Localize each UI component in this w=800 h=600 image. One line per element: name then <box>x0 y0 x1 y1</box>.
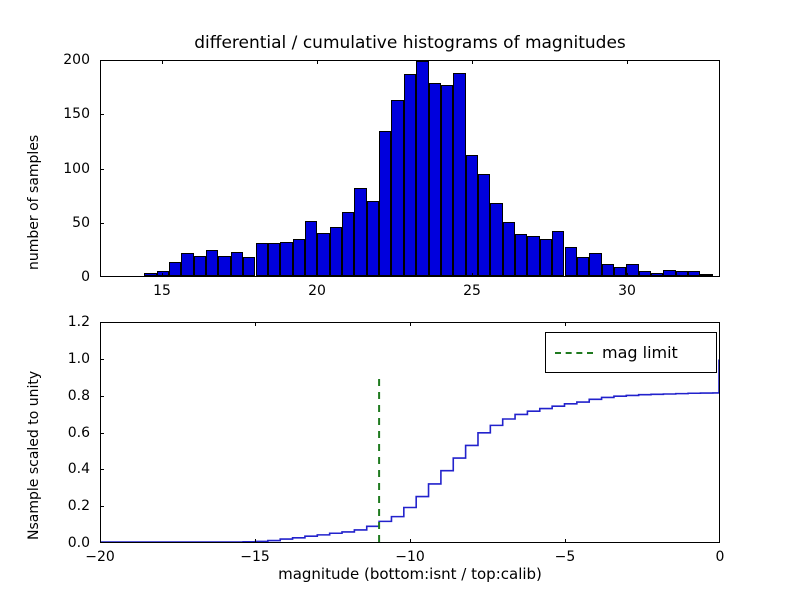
figure-canvas: differential / cumulative histograms of … <box>0 0 800 600</box>
legend-item-label: mag limit <box>602 343 678 362</box>
top-x-tick-label: 25 <box>442 283 502 299</box>
histogram-bar <box>181 253 193 276</box>
top-x-tick-mark <box>472 60 473 64</box>
histogram-bar <box>589 253 601 276</box>
top-x-tick-mark <box>472 273 473 277</box>
top-x-tick-mark <box>317 273 318 277</box>
bottom-x-tick-label: 0 <box>690 549 750 565</box>
histogram-bar <box>367 201 379 276</box>
top-x-tick-mark <box>162 273 163 277</box>
x-axis-label: magnitude (bottom:isnt / top:calib) <box>100 565 720 583</box>
histogram-bar <box>194 256 206 276</box>
histogram-bar <box>688 271 700 276</box>
bottom-x-tick-mark <box>565 322 566 326</box>
histogram-bar <box>330 227 342 276</box>
histogram-bar <box>268 243 280 276</box>
bottom-x-tick-label: −10 <box>380 549 440 565</box>
histogram-bar <box>552 231 564 276</box>
histogram-bar <box>429 83 441 277</box>
bottom-y-tick-mark <box>100 469 104 470</box>
top-x-tick-mark <box>317 60 318 64</box>
histogram-bar <box>317 233 329 276</box>
mag-limit-legend-swatch <box>555 352 593 354</box>
page-title: differential / cumulative histograms of … <box>100 33 720 53</box>
top-x-tick-label: 20 <box>287 283 347 299</box>
histogram-bar <box>441 85 453 276</box>
top-y-tick-label: 50 <box>0 215 90 231</box>
bottom-y-tick-label: 0.6 <box>0 425 90 441</box>
histogram-bar <box>577 257 589 276</box>
histogram-bar <box>503 222 515 276</box>
top-y-tick-mark <box>100 114 104 115</box>
bottom-y-tick-label: 1.0 <box>0 351 90 367</box>
legend-box: mag limit <box>545 332 717 373</box>
bottom-y-tick-mark <box>100 396 104 397</box>
histogram-bar <box>379 131 391 276</box>
bottom-x-tick-mark <box>410 539 411 543</box>
top-x-tick-label: 15 <box>132 283 192 299</box>
histogram-bar <box>416 61 428 276</box>
histogram-bar <box>700 274 712 276</box>
bottom-x-tick-mark <box>255 322 256 326</box>
bottom-x-tick-label: −20 <box>70 549 130 565</box>
histogram-bar <box>280 242 292 276</box>
histogram-bar <box>169 262 181 276</box>
histogram-bar <box>466 155 478 276</box>
bottom-x-tick-label: −5 <box>535 549 595 565</box>
histogram-bar <box>218 256 230 276</box>
histogram-bar <box>206 250 218 276</box>
top-panel-y-axis-label: number of samples <box>26 135 42 270</box>
histogram-bar <box>527 236 539 276</box>
histogram-bar <box>342 212 354 277</box>
histogram-bar <box>565 247 577 276</box>
bottom-x-tick-label: −15 <box>225 549 285 565</box>
top-y-tick-label: 100 <box>0 161 90 177</box>
top-y-tick-mark <box>100 223 104 224</box>
top-y-tick-label: 0 <box>0 269 90 285</box>
histogram-bar <box>490 203 502 276</box>
bottom-y-tick-label: 0.4 <box>0 461 90 477</box>
histogram-bar <box>453 73 465 276</box>
histogram-bar <box>354 188 366 276</box>
top-x-tick-mark <box>627 273 628 277</box>
histogram-bar <box>144 273 156 276</box>
cumulative-step-line <box>101 360 719 543</box>
histogram-bar <box>305 221 317 276</box>
histogram-bar <box>540 239 552 276</box>
top-x-tick-label: 30 <box>597 283 657 299</box>
bottom-x-tick-mark <box>255 539 256 543</box>
bottom-y-tick-mark <box>100 506 104 507</box>
histogram-bar <box>614 267 626 276</box>
histogram-bar <box>231 252 243 276</box>
top-y-tick-label: 200 <box>0 52 90 68</box>
top-y-tick-label: 150 <box>0 106 90 122</box>
bottom-y-tick-label: 1.2 <box>0 314 90 330</box>
top-y-tick-mark <box>100 169 104 170</box>
histogram-bar <box>391 100 403 276</box>
bottom-x-tick-mark <box>410 322 411 326</box>
histogram-bar <box>626 264 638 276</box>
histogram-bar <box>478 174 490 276</box>
bottom-y-tick-mark <box>100 433 104 434</box>
bottom-x-tick-mark <box>565 539 566 543</box>
bottom-y-tick-label: 0.2 <box>0 498 90 514</box>
histogram-bar <box>676 271 688 276</box>
histogram-bar <box>663 270 675 276</box>
histogram-bars <box>101 61 719 276</box>
histogram-bar <box>602 264 614 276</box>
histogram-bar <box>293 239 305 276</box>
histogram-bar <box>515 234 527 276</box>
histogram-bar <box>404 74 416 276</box>
bottom-y-tick-label: 0.8 <box>0 388 90 404</box>
bottom-y-tick-mark <box>100 359 104 360</box>
top-panel-plot-area <box>100 60 720 277</box>
histogram-bar <box>639 271 651 276</box>
histogram-bar <box>256 243 268 276</box>
top-x-tick-mark <box>162 60 163 64</box>
top-x-tick-mark <box>627 60 628 64</box>
histogram-bar <box>651 273 663 276</box>
histogram-bar <box>243 257 255 276</box>
